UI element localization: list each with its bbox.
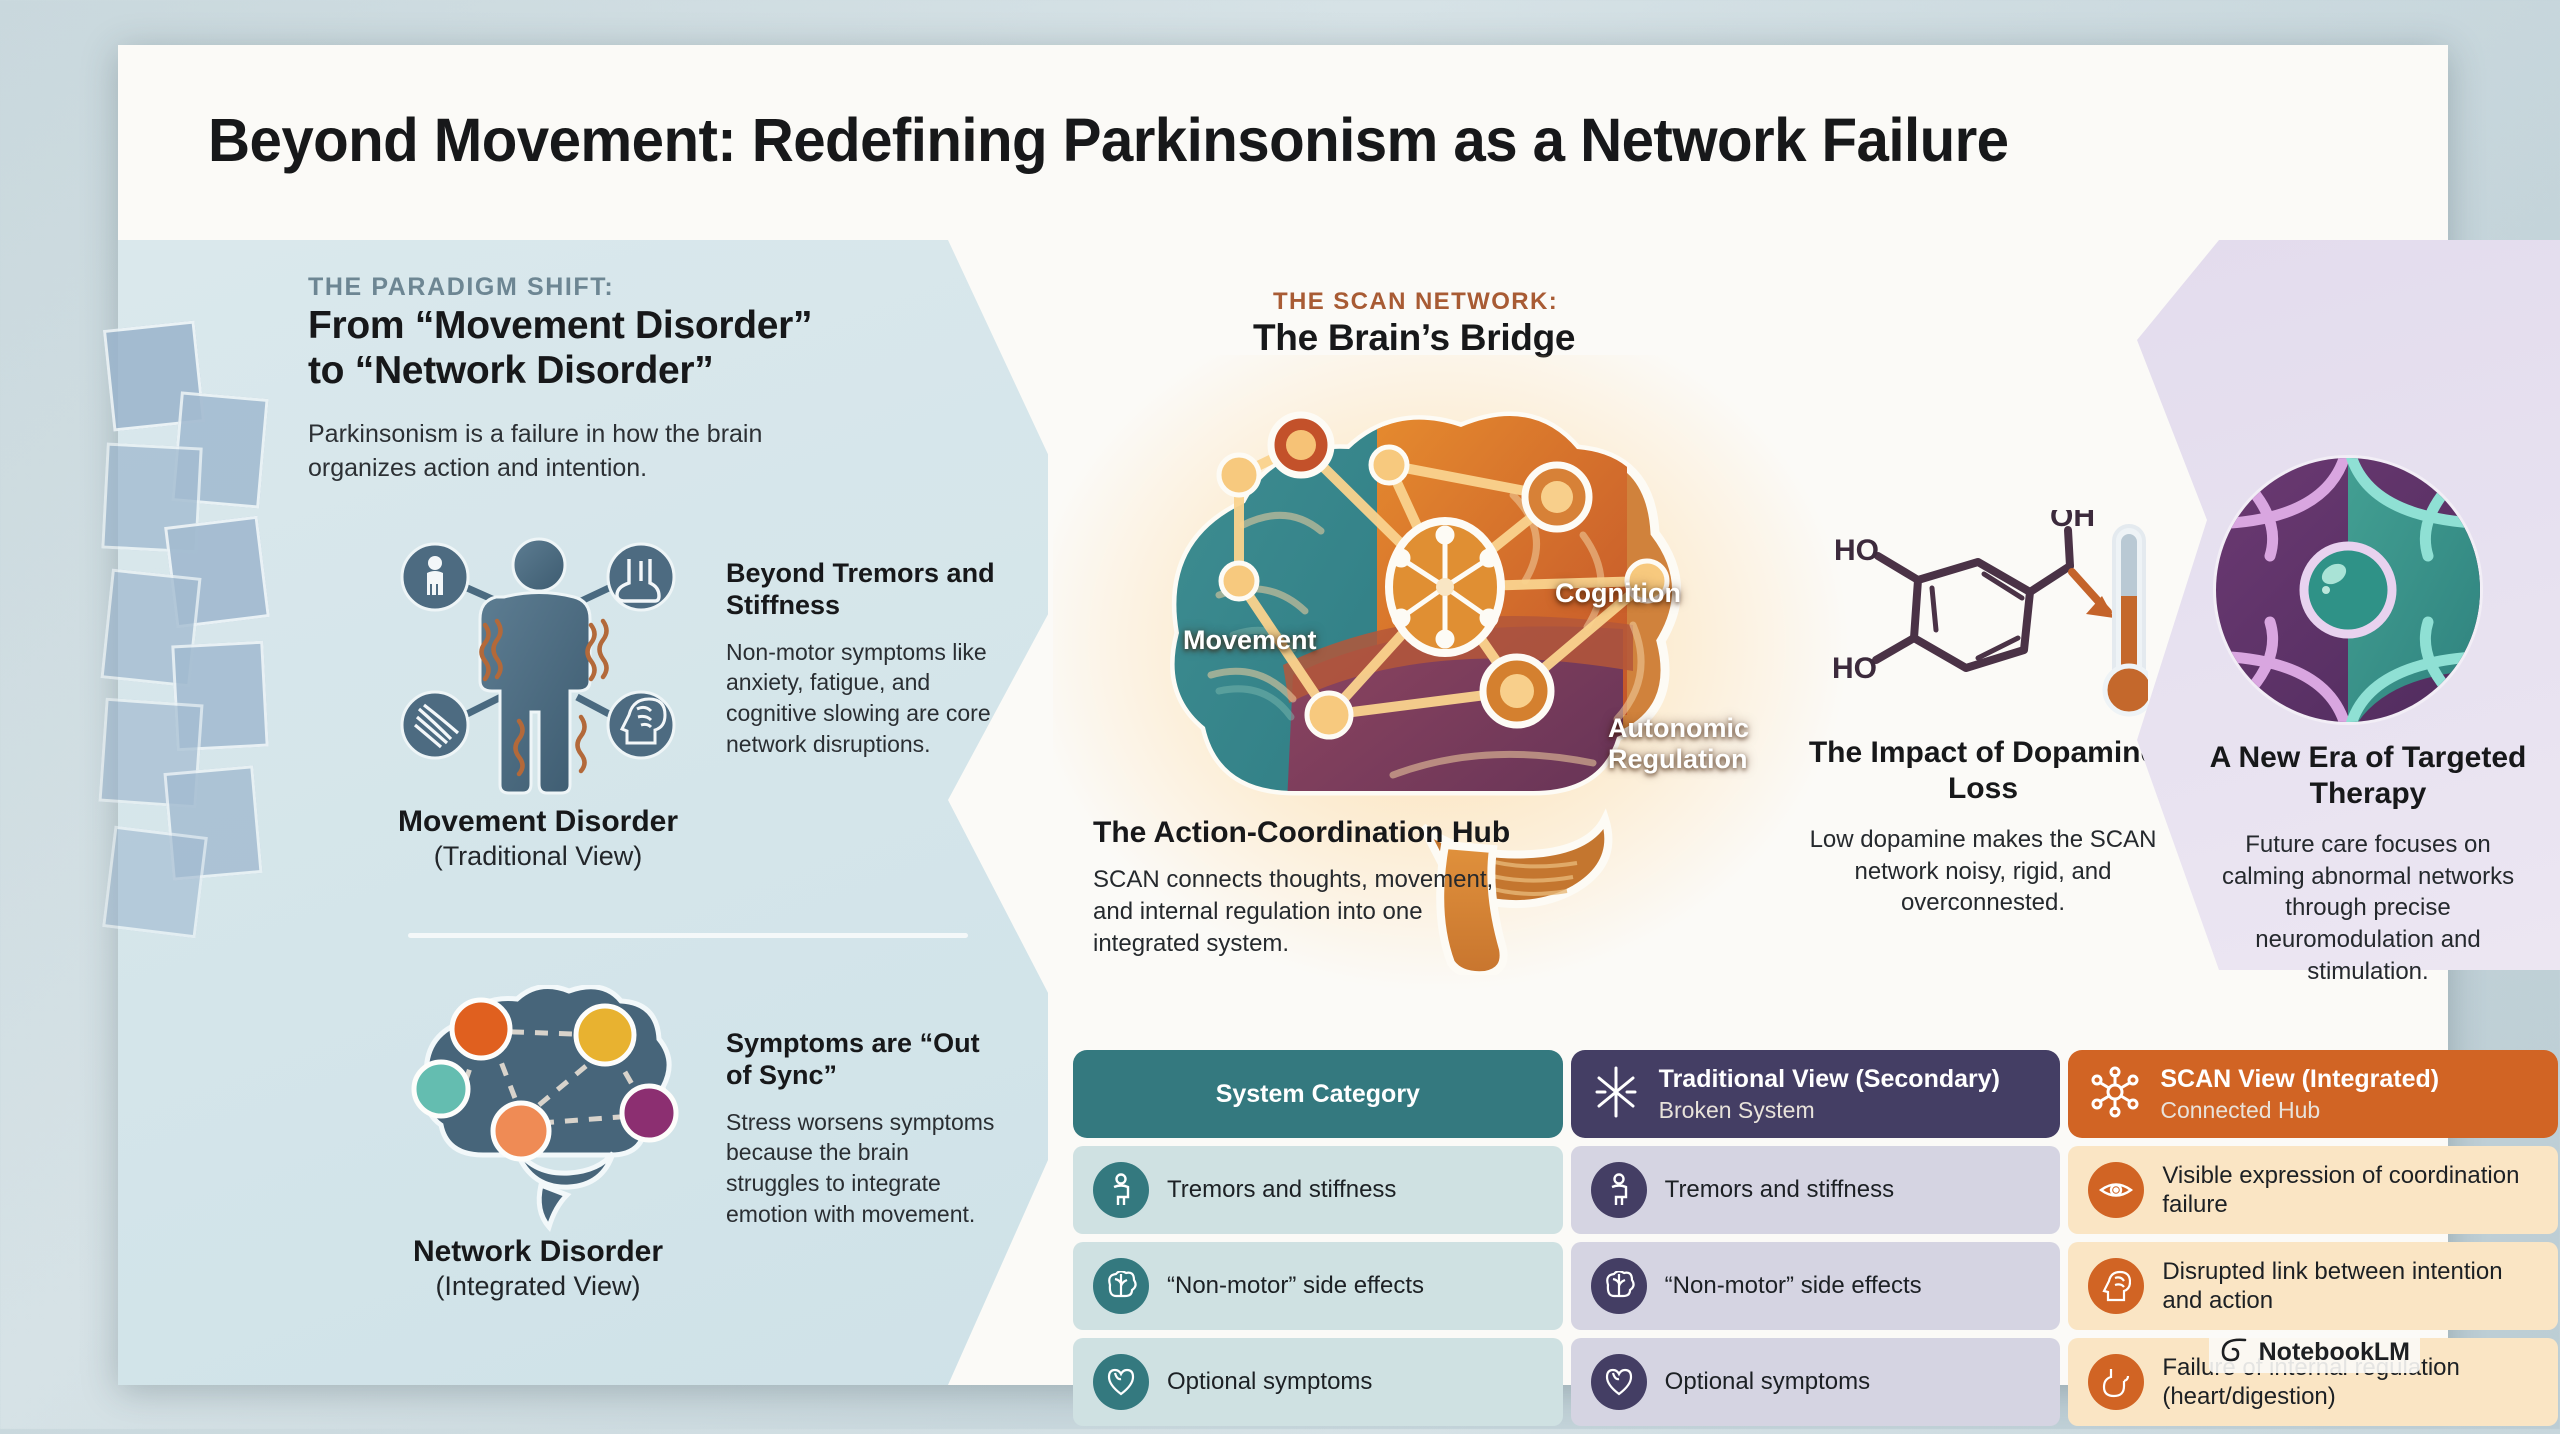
dopamine-block: The Impact of Dopamine Loss Low dopamine… — [1808, 735, 2158, 919]
table-cell-1-0[interactable]: “Non-motor” side effects — [1073, 1242, 1563, 1330]
table-header-0-title: System Category — [1216, 1079, 1420, 1109]
head-brain-icon — [2088, 1258, 2144, 1314]
table-cell-2-0-text: Optional symptoms — [1167, 1367, 1372, 1396]
notebooklm-watermark: NotebookLM — [2209, 1332, 2420, 1373]
table-header-1-title: Traditional View (Secondary) — [1659, 1064, 2000, 1094]
table-row: “Non-motor” side effects “Non-motor” sid… — [1073, 1242, 2558, 1330]
dopamine-molecule-illustration: HO HO OH — [1818, 510, 2148, 730]
left-block-sync-body: Stress worsens symptoms because the brai… — [726, 1107, 996, 1229]
left-block-sync-heading: Symptoms are “Out of Sync” — [726, 1027, 996, 1092]
molecule-label-ho-upper: HO — [1834, 534, 1879, 567]
figure2-caption-bold: Network Disorder — [288, 1235, 788, 1269]
left-block-tremors-heading: Beyond Tremors and Stiffness — [726, 557, 996, 622]
figure2-caption: Network Disorder (Integrated View) — [288, 1235, 788, 1302]
left-heading: From “Movement Disorder” to “Network Dis… — [308, 303, 908, 393]
heart-icon — [1093, 1354, 1149, 1410]
table-cell-2-0[interactable]: Optional symptoms — [1073, 1338, 1563, 1426]
hub-block: The Action-Coordination Hub SCAN connect… — [1093, 815, 1523, 959]
table-cell-0-1[interactable]: Tremors and stiffness — [1571, 1146, 2061, 1234]
table-header-1-subtitle: Broken System — [1659, 1097, 2000, 1124]
center-heading: The Brain’s Bridge — [1253, 317, 1575, 359]
brain-label-autonomic-line2: Regulation — [1608, 744, 1749, 775]
notebooklm-logo-icon — [2219, 1336, 2249, 1369]
movement-disorder-illustration — [373, 525, 703, 805]
dopamine-heading: The Impact of Dopamine Loss — [1808, 735, 2158, 807]
left-eyebrow: THE PARADIGM SHIFT: — [308, 273, 614, 302]
table-cell-1-2-text: Disrupted link between intention and act… — [2162, 1257, 2538, 1316]
brain-label-autonomic-line1: Autonomic — [1608, 713, 1749, 744]
therapy-heading: A New Era of Targeted Therapy — [2203, 740, 2533, 812]
person-icon — [1591, 1162, 1647, 1218]
table-cell-0-1-text: Tremors and stiffness — [1665, 1175, 1894, 1204]
brain-label-cognition: Cognition — [1555, 578, 1681, 609]
table-cell-2-1-text: Optional symptoms — [1665, 1367, 1870, 1396]
table-cell-0-2-text: Visible expression of coordination failu… — [2162, 1161, 2538, 1220]
brain-label-movement: Movement — [1183, 625, 1317, 656]
table-cell-2-1[interactable]: Optional symptoms — [1571, 1338, 2061, 1426]
mosaic-decoration — [118, 325, 298, 955]
table-header-traditional-view[interactable]: Traditional View (Secondary) Broken Syst… — [1571, 1050, 2061, 1138]
thermometer-icon — [2105, 526, 2148, 714]
left-block-tremors: Beyond Tremors and Stiffness Non-motor s… — [726, 557, 996, 759]
dopamine-body: Low dopamine makes the SCAN network nois… — [1808, 824, 2158, 919]
decline-arrow-icon — [2072, 572, 2114, 618]
hub-heading: The Action-Coordination Hub — [1093, 815, 1523, 850]
table-cell-1-0-text: “Non-motor” side effects — [1167, 1271, 1424, 1300]
left-block-tremors-body: Non-motor symptoms like anxiety, fatigue… — [726, 637, 996, 759]
heart-icon — [1591, 1354, 1647, 1410]
table-row: Tremors and stiffness Tremors and stiffn… — [1073, 1146, 2558, 1234]
network-disorder-illustration — [373, 985, 713, 1235]
left-subtitle: Parkinsonism is a failure in how the bra… — [308, 417, 868, 485]
brain-label-autonomic: Autonomic Regulation — [1608, 713, 1749, 775]
therapy-body: Future care focuses on calming abnormal … — [2203, 829, 2533, 987]
person-icon — [427, 556, 443, 595]
left-heading-line2: to “Network Disorder” — [308, 348, 908, 393]
figure2-caption-thin: (Integrated View) — [288, 1271, 788, 1302]
table-header-scan-view[interactable]: SCAN View (Integrated) Connected Hub — [2068, 1050, 2558, 1138]
page-title: Beyond Movement: Redefining Parkinsonism… — [208, 105, 2271, 175]
left-block-sync: Symptoms are “Out of Sync” Stress worsen… — [726, 1027, 996, 1229]
figure1-caption-thin: (Traditional View) — [288, 841, 788, 872]
table-header-system-category[interactable]: System Category — [1073, 1050, 1563, 1138]
broken-network-icon — [1593, 1066, 1639, 1123]
table-cell-1-1-text: “Non-motor” side effects — [1665, 1271, 1922, 1300]
table-cell-1-1[interactable]: “Non-motor” side effects — [1571, 1242, 2061, 1330]
therapy-block: A New Era of Targeted Therapy Future car… — [2203, 740, 2533, 987]
table-cell-0-0-text: Tremors and stiffness — [1167, 1175, 1396, 1204]
molecule-label-oh: OH — [2050, 510, 2095, 533]
brain-icon — [1591, 1258, 1647, 1314]
comparison-table: System Category Traditional View (Second… — [1073, 1050, 2558, 1434]
figure1-caption-bold: Movement Disorder — [288, 805, 788, 839]
left-heading-line1: From “Movement Disorder” — [308, 303, 908, 348]
infographic-poster: Beyond Movement: Redefining Parkinsonism… — [118, 45, 2448, 1385]
molecule-label-ho-lower: HO — [1832, 652, 1877, 685]
table-cell-0-0[interactable]: Tremors and stiffness — [1073, 1146, 1563, 1234]
stomach-icon — [2088, 1354, 2144, 1410]
connected-hub-icon — [2090, 1066, 2140, 1123]
brain-icon — [1093, 1258, 1149, 1314]
hub-body: SCAN connects thoughts, movement, and in… — [1093, 864, 1523, 959]
left-divider — [408, 933, 968, 938]
eye-icon — [2088, 1162, 2144, 1218]
neuromodulation-illustration — [2208, 450, 2498, 735]
table-cell-0-2[interactable]: Visible expression of coordination failu… — [2068, 1146, 2558, 1234]
table-header-2-title: SCAN View (Integrated) — [2160, 1064, 2439, 1094]
center-eyebrow: THE SCAN NETWORK: — [1273, 288, 1558, 316]
table-header-2-subtitle: Connected Hub — [2160, 1097, 2439, 1124]
figure1-caption: Movement Disorder (Traditional View) — [288, 805, 788, 872]
table-cell-1-2[interactable]: Disrupted link between intention and act… — [2068, 1242, 2558, 1330]
table-header-row: System Category Traditional View (Second… — [1073, 1050, 2558, 1138]
notebooklm-label: NotebookLM — [2259, 1338, 2410, 1367]
person-icon — [1093, 1162, 1149, 1218]
